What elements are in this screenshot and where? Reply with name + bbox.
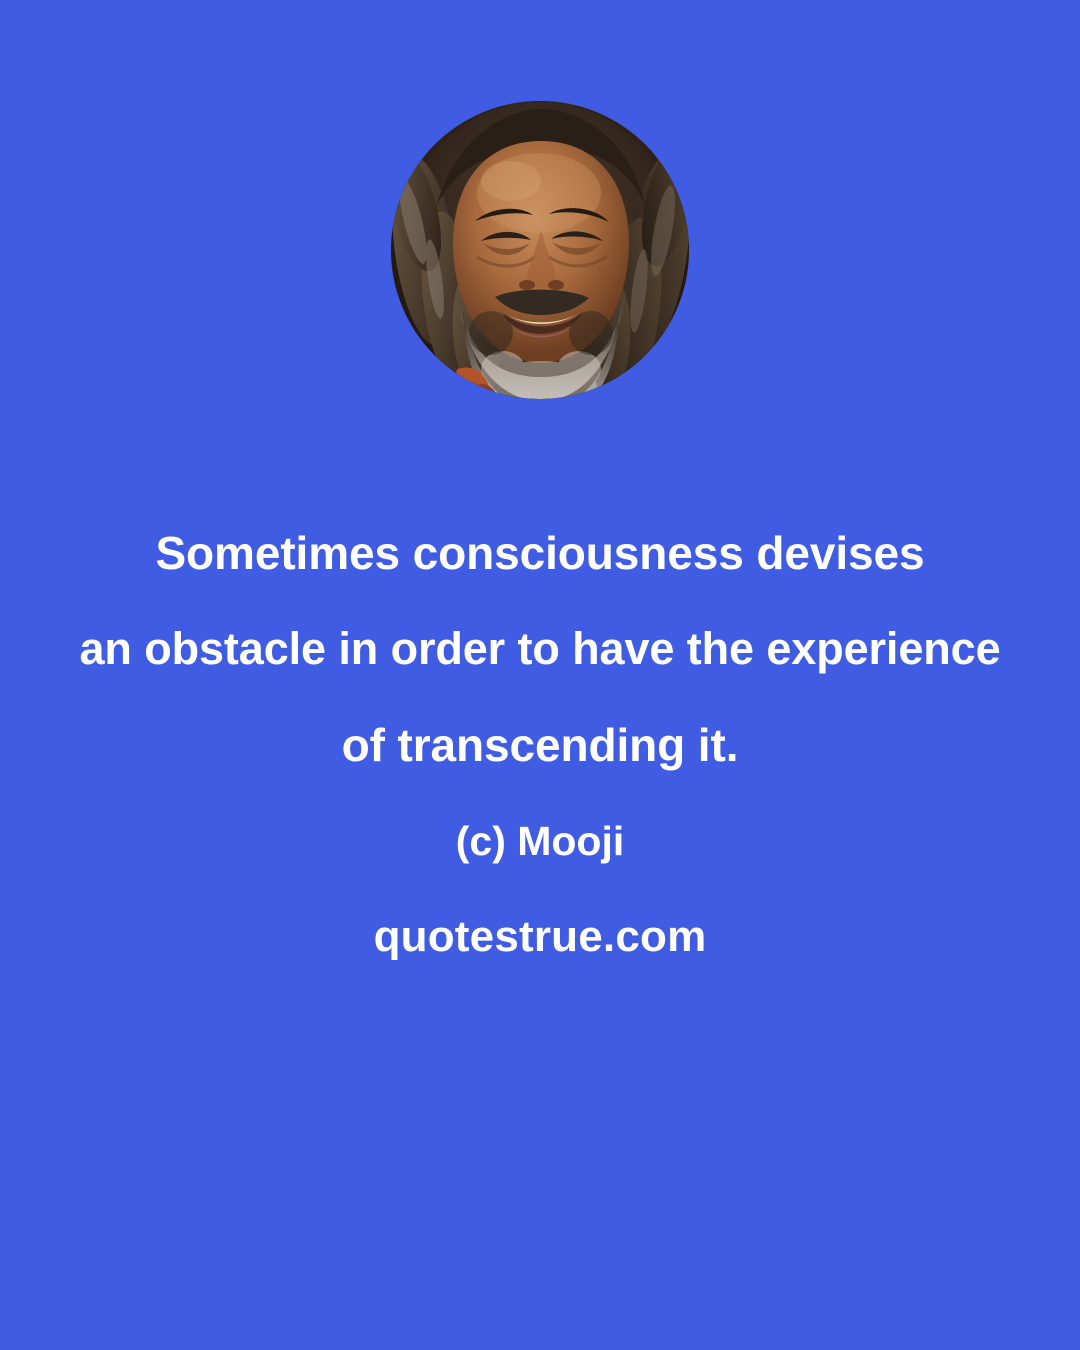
- quote-line-3: of transcending it.: [18, 697, 1062, 793]
- portrait-illustration: [391, 101, 689, 399]
- quote-content: Sometimes consciousness devises an obsta…: [0, 505, 1080, 985]
- quote-line-2: an obstacle in order to have the experie…: [18, 601, 1062, 697]
- quote-text: Sometimes consciousness devises an obsta…: [0, 505, 1080, 793]
- quote-card: Sometimes consciousness devises an obsta…: [0, 0, 1080, 1350]
- quote-attribution: (c) Mooji: [0, 793, 1080, 889]
- mooji-portrait-avatar: [391, 101, 689, 399]
- quote-line-1: Sometimes consciousness devises: [18, 505, 1062, 601]
- source-website[interactable]: quotestrue.com: [0, 889, 1080, 985]
